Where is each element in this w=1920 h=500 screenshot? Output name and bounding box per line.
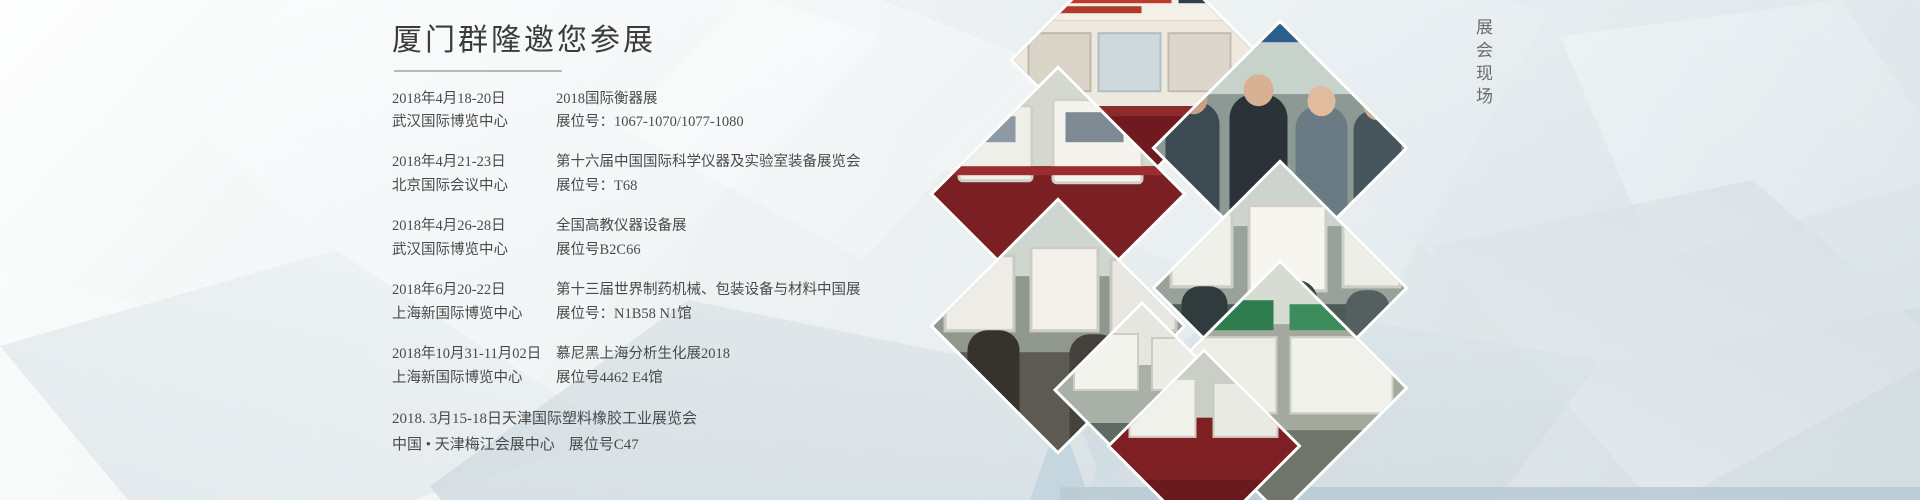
- event-booth: 展位号B2C66: [542, 239, 641, 262]
- event-venue: 上海新国际博览中心: [392, 303, 542, 326]
- event-line-primary: 2018年4月18-20日 2018国际衡器展: [392, 88, 1012, 111]
- event-item[interactable]: 2018年4月21-23日 第十六届中国国际科学仪器及实验室装备展览会 北京国际…: [392, 151, 1012, 198]
- promo-banner: 厦门群隆邀您参展 2018年4月18-20日 2018国际衡器展 武汉国际博览中…: [0, 0, 1920, 500]
- photo-mosaic: [1020, 0, 1460, 500]
- event-list-panel: 厦门群隆邀您参展 2018年4月18-20日 2018国际衡器展 武汉国际博览中…: [392, 22, 1012, 475]
- event-name: 慕尼黑上海分析生化展2018: [542, 343, 730, 366]
- event-line-secondary: 武汉国际博览中心 展位号B2C66: [392, 239, 1012, 262]
- event-booth: 展位号：N1B58 N1馆: [542, 303, 692, 326]
- event-booth: 展位号：T68: [542, 175, 637, 198]
- event-line-primary: 2018年4月26-28日 全国高教仪器设备展: [392, 215, 1012, 238]
- event-name: 第十六届中国国际科学仪器及实验室装备展览会: [542, 151, 861, 174]
- event-line-secondary: 北京国际会议中心 展位号：T68: [392, 175, 1012, 198]
- event-line-secondary: 上海新国际博览中心 展位号：N1B58 N1馆: [392, 303, 1012, 326]
- event-date: 2018年4月21-23日: [392, 151, 542, 174]
- event-line-primary: 2018年4月21-23日 第十六届中国国际科学仪器及实验室装备展览会: [392, 151, 1012, 174]
- event-date: 2018年4月26-28日: [392, 215, 542, 238]
- event-date: 2018年10月31-11月02日: [392, 343, 542, 366]
- event-item[interactable]: 2018. 3月15-18日天津国际塑料橡胶工业展览会 中国 • 天津梅江会展中…: [392, 407, 1012, 458]
- event-line-secondary: 中国 • 天津梅江会展中心 展位号C47: [392, 433, 1012, 459]
- event-line-primary: 2018年6月20-22日 第十三届世界制药机械、包装设备与材料中国展: [392, 279, 1012, 302]
- event-booth: 展位号4462 E4馆: [542, 367, 663, 390]
- event-line-secondary: 上海新国际博览中心 展位号4462 E4馆: [392, 367, 1012, 390]
- event-name: [697, 407, 711, 433]
- event-venue: 中国 • 天津梅江会展中心: [392, 433, 555, 459]
- event-name: 第十三届世界制药机械、包装设备与材料中国展: [542, 279, 861, 302]
- page-title: 厦门群隆邀您参展: [392, 22, 1012, 60]
- event-booth: 展位号C47: [555, 433, 639, 459]
- event-date: 2018年4月18-20日: [392, 88, 542, 111]
- background-facet: [1430, 180, 1920, 500]
- event-line-primary: 2018. 3月15-18日天津国际塑料橡胶工业展览会: [392, 407, 1012, 433]
- event-venue: 武汉国际博览中心: [392, 111, 542, 134]
- background-facet: [1560, 0, 1920, 260]
- event-line-secondary: 武汉国际博览中心 展位号：1067-1070/1077-1080: [392, 111, 1012, 134]
- event-venue: 武汉国际博览中心: [392, 239, 542, 262]
- event-venue: 上海新国际博览中心: [392, 367, 542, 390]
- event-line-primary: 2018年10月31-11月02日 慕尼黑上海分析生化展2018: [392, 343, 1012, 366]
- event-venue: 北京国际会议中心: [392, 175, 542, 198]
- event-item[interactable]: 2018年10月31-11月02日 慕尼黑上海分析生化展2018 上海新国际博览…: [392, 343, 1012, 390]
- event-name: 2018国际衡器展: [542, 88, 658, 111]
- event-booth: 展位号：1067-1070/1077-1080: [542, 111, 744, 134]
- event-item[interactable]: 2018年4月18-20日 2018国际衡器展 武汉国际博览中心 展位号：106…: [392, 88, 1012, 135]
- event-date: 2018. 3月15-18日天津国际塑料橡胶工业展览会: [392, 407, 697, 433]
- event-item[interactable]: 2018年4月26-28日 全国高教仪器设备展 武汉国际博览中心 展位号B2C6…: [392, 215, 1012, 262]
- event-date: 2018年6月20-22日: [392, 279, 542, 302]
- section-label-vertical: 展会现场: [1470, 18, 1495, 110]
- event-name: 全国高教仪器设备展: [542, 215, 687, 238]
- title-underline: [394, 70, 562, 72]
- event-item[interactable]: 2018年6月20-22日 第十三届世界制药机械、包装设备与材料中国展 上海新国…: [392, 279, 1012, 326]
